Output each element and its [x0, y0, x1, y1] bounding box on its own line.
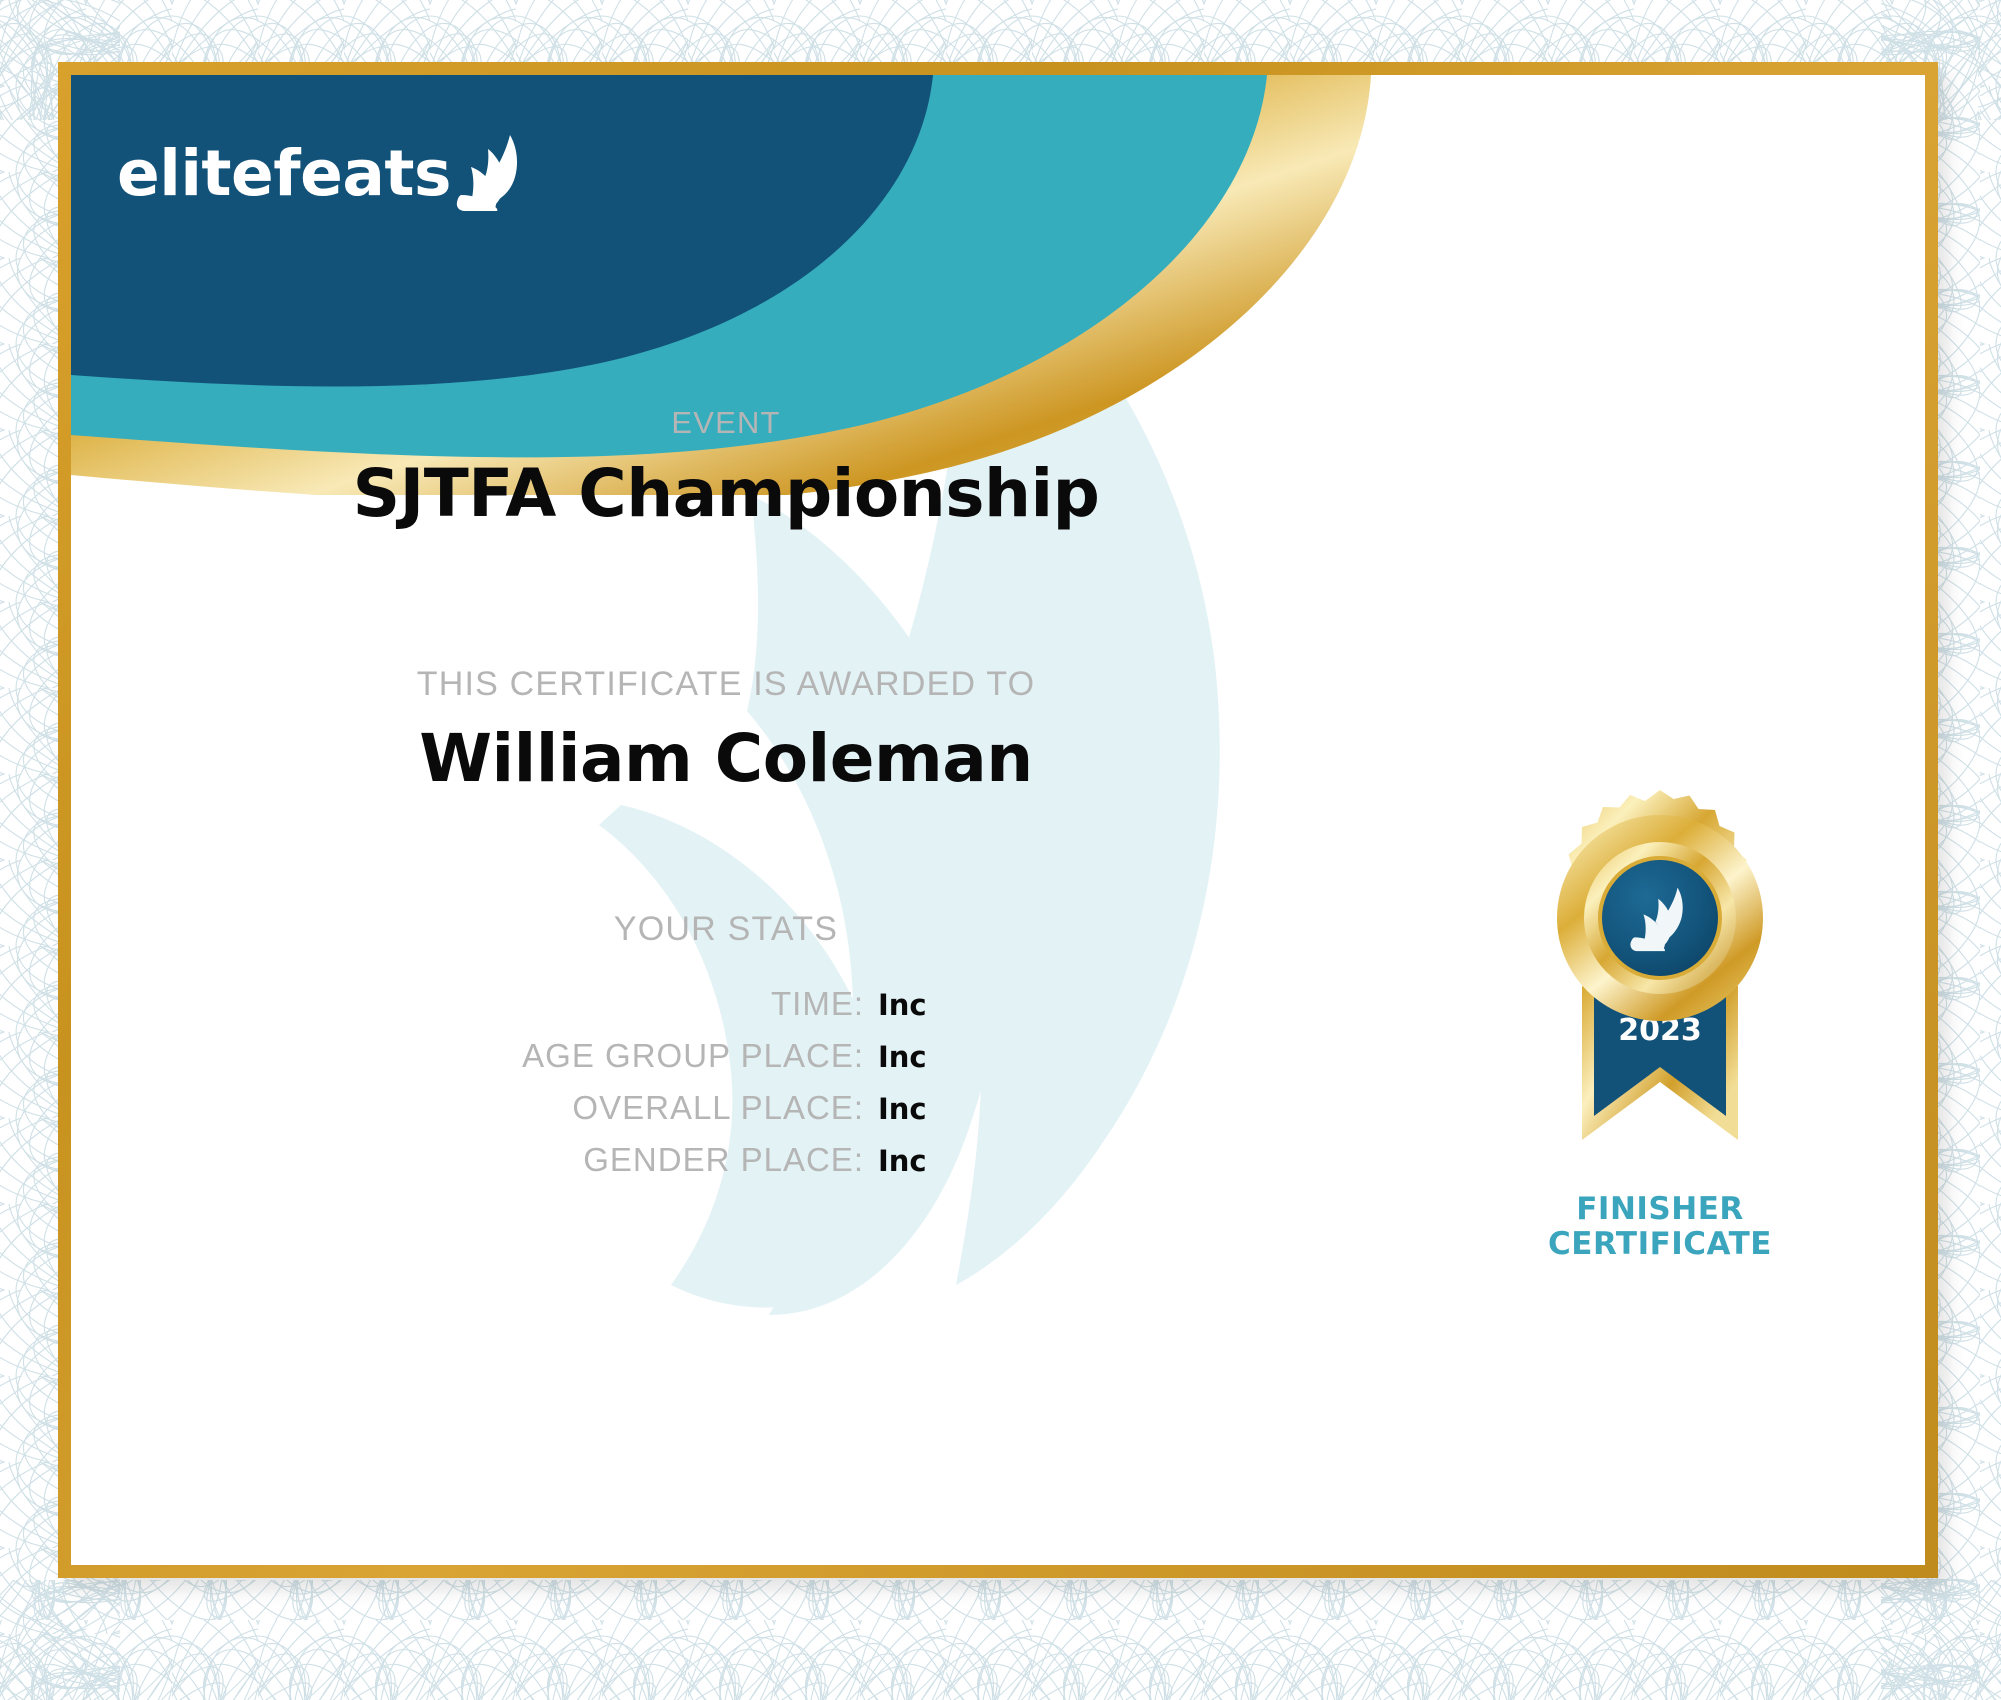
winged-foot-icon	[455, 133, 529, 213]
stat-row-age-group-place: AGE GROUP PLACE: Inc	[71, 1037, 1381, 1075]
stat-value: Inc	[878, 1040, 1058, 1074]
seal-caption-line-2: CERTIFICATE	[1495, 1227, 1825, 1262]
gold-frame: elitefeats EVENT SJTFA Championship THIS…	[58, 62, 1938, 1578]
seal-caption: FINISHER CERTIFICATE	[1495, 1192, 1825, 1261]
stat-value: Inc	[878, 1092, 1058, 1126]
stat-row-gender-place: GENDER PLACE: Inc	[71, 1141, 1381, 1179]
stat-label: GENDER PLACE:	[394, 1141, 864, 1179]
event-name: SJTFA Championship	[71, 455, 1381, 532]
awarded-to-label: THIS CERTIFICATE IS AWARDED TO	[71, 665, 1381, 704]
certificate-page: elitefeats EVENT SJTFA Championship THIS…	[0, 0, 2001, 1700]
seal-caption-line-1: FINISHER	[1495, 1192, 1825, 1227]
stat-value: Inc	[878, 988, 1058, 1022]
recipient-name: William Coleman	[71, 720, 1381, 797]
stat-label: OVERALL PLACE:	[394, 1089, 864, 1127]
event-label: EVENT	[71, 405, 1381, 441]
stat-row-overall-place: OVERALL PLACE: Inc	[71, 1089, 1381, 1127]
stat-value: Inc	[878, 1144, 1058, 1178]
brand-logo: elitefeats	[117, 133, 529, 213]
stat-label: AGE GROUP PLACE:	[394, 1037, 864, 1075]
stats-list: TIME: Inc AGE GROUP PLACE: Inc OVERALL P…	[71, 985, 1381, 1193]
stat-label: TIME:	[394, 985, 864, 1023]
stat-row-time: TIME: Inc	[71, 985, 1381, 1023]
finisher-seal: 2023	[1495, 790, 1825, 1261]
award-medal-icon: 2023	[1520, 790, 1800, 1190]
your-stats-label: YOUR STATS	[71, 910, 1381, 949]
brand-wordmark: elitefeats	[117, 142, 451, 205]
certificate-canvas: elitefeats EVENT SJTFA Championship THIS…	[71, 75, 1925, 1565]
